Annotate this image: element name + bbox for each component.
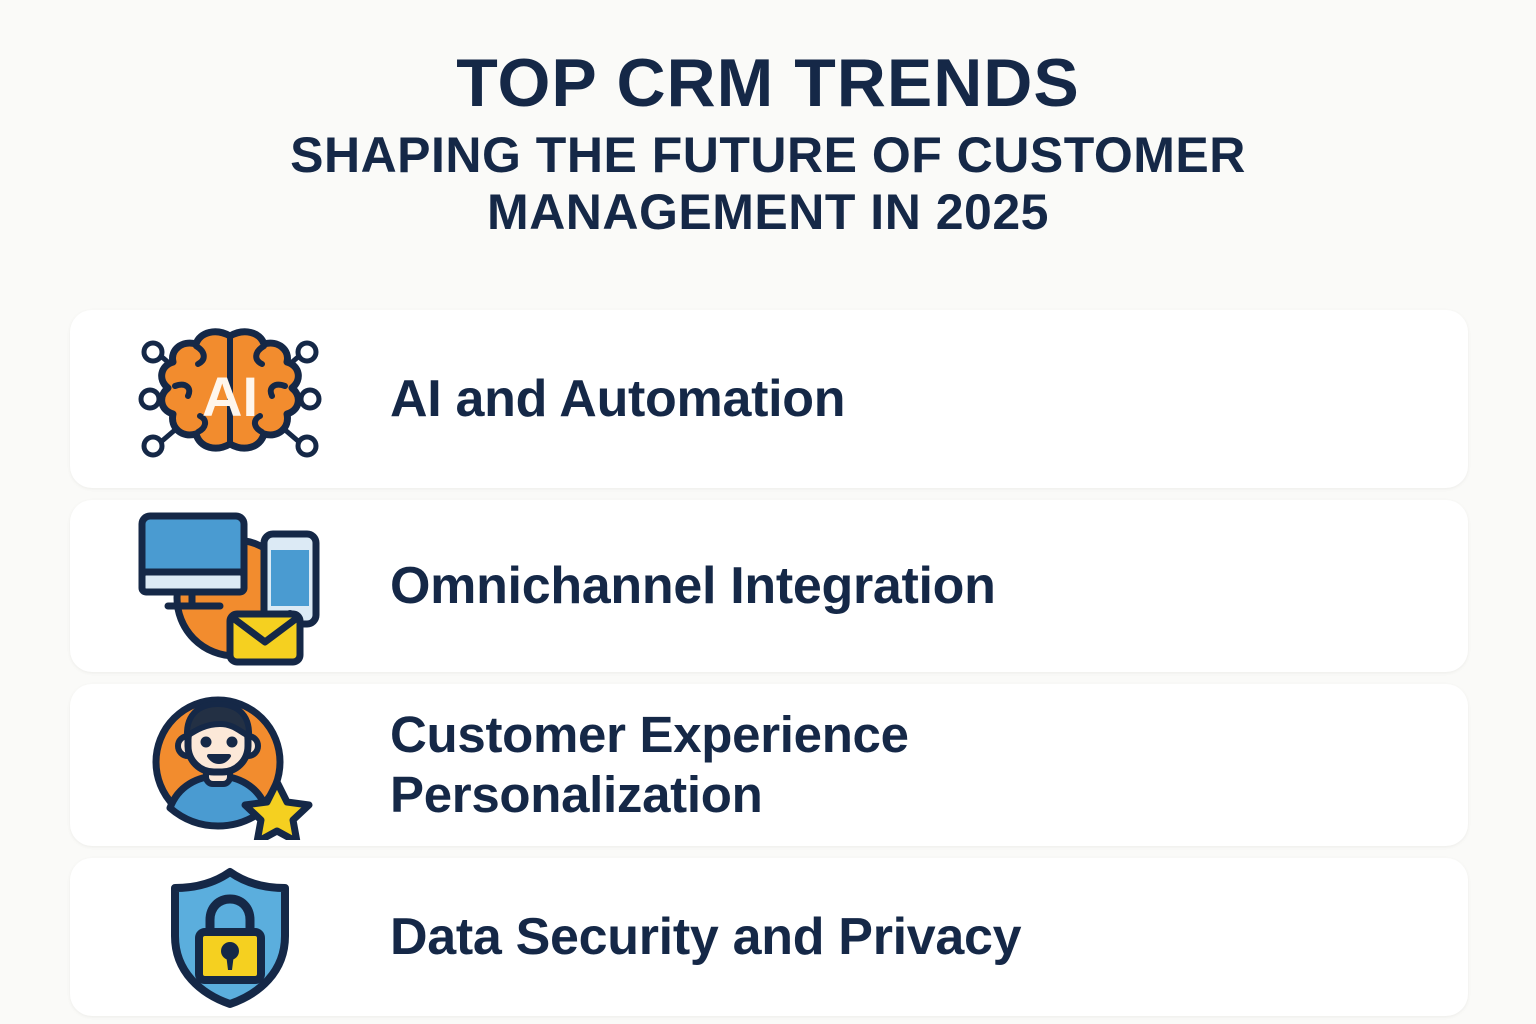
- trend-label: Customer Experience Personalization: [390, 705, 939, 825]
- trend-card-customer-experience-personalization[interactable]: Customer Experience Personalization: [70, 684, 1468, 846]
- trend-label-line-1: Data Security and Privacy: [390, 909, 1021, 965]
- customer-avatar-star-icon: [140, 690, 320, 840]
- page-subtitle-line-2: MANAGEMENT IN 2025: [60, 184, 1476, 241]
- trend-label-line-2: Personalization: [390, 765, 909, 825]
- trend-label: AI and Automation: [390, 371, 875, 427]
- trend-card-list: AI AI and Automation: [70, 310, 1468, 1024]
- trend-label-line-1: Customer Experience: [390, 705, 909, 765]
- trend-label-line-1: Omnichannel Integration: [390, 558, 996, 614]
- trend-card-data-security-and-privacy[interactable]: Data Security and Privacy: [70, 858, 1468, 1016]
- ai-brain-icon: AI: [130, 324, 330, 474]
- trend-label-line-1: AI and Automation: [390, 371, 845, 427]
- trend-label: Data Security and Privacy: [390, 909, 1051, 965]
- page-subtitle-line-1: SHAPING THE FUTURE OF CUSTOMER: [60, 127, 1476, 184]
- icon-container: [70, 858, 390, 1016]
- infographic-page: TOP CRM TRENDS SHAPING THE FUTURE OF CUS…: [0, 0, 1536, 1024]
- icon-container: [70, 500, 390, 672]
- page-header: TOP CRM TRENDS SHAPING THE FUTURE OF CUS…: [0, 0, 1536, 241]
- trend-card-ai-and-automation[interactable]: AI AI and Automation: [70, 310, 1468, 488]
- icon-container: [70, 684, 390, 846]
- omnichannel-devices-icon: [130, 506, 330, 666]
- shield-lock-icon: [155, 862, 305, 1012]
- trend-card-omnichannel-integration[interactable]: Omnichannel Integration: [70, 500, 1468, 672]
- ai-brain-icon-label: AI: [202, 365, 258, 428]
- icon-container: AI: [70, 310, 390, 488]
- trend-label: Omnichannel Integration: [390, 558, 1026, 614]
- page-subtitle: SHAPING THE FUTURE OF CUSTOMER MANAGEMEN…: [0, 127, 1536, 241]
- page-title: TOP CRM TRENDS: [0, 48, 1536, 119]
